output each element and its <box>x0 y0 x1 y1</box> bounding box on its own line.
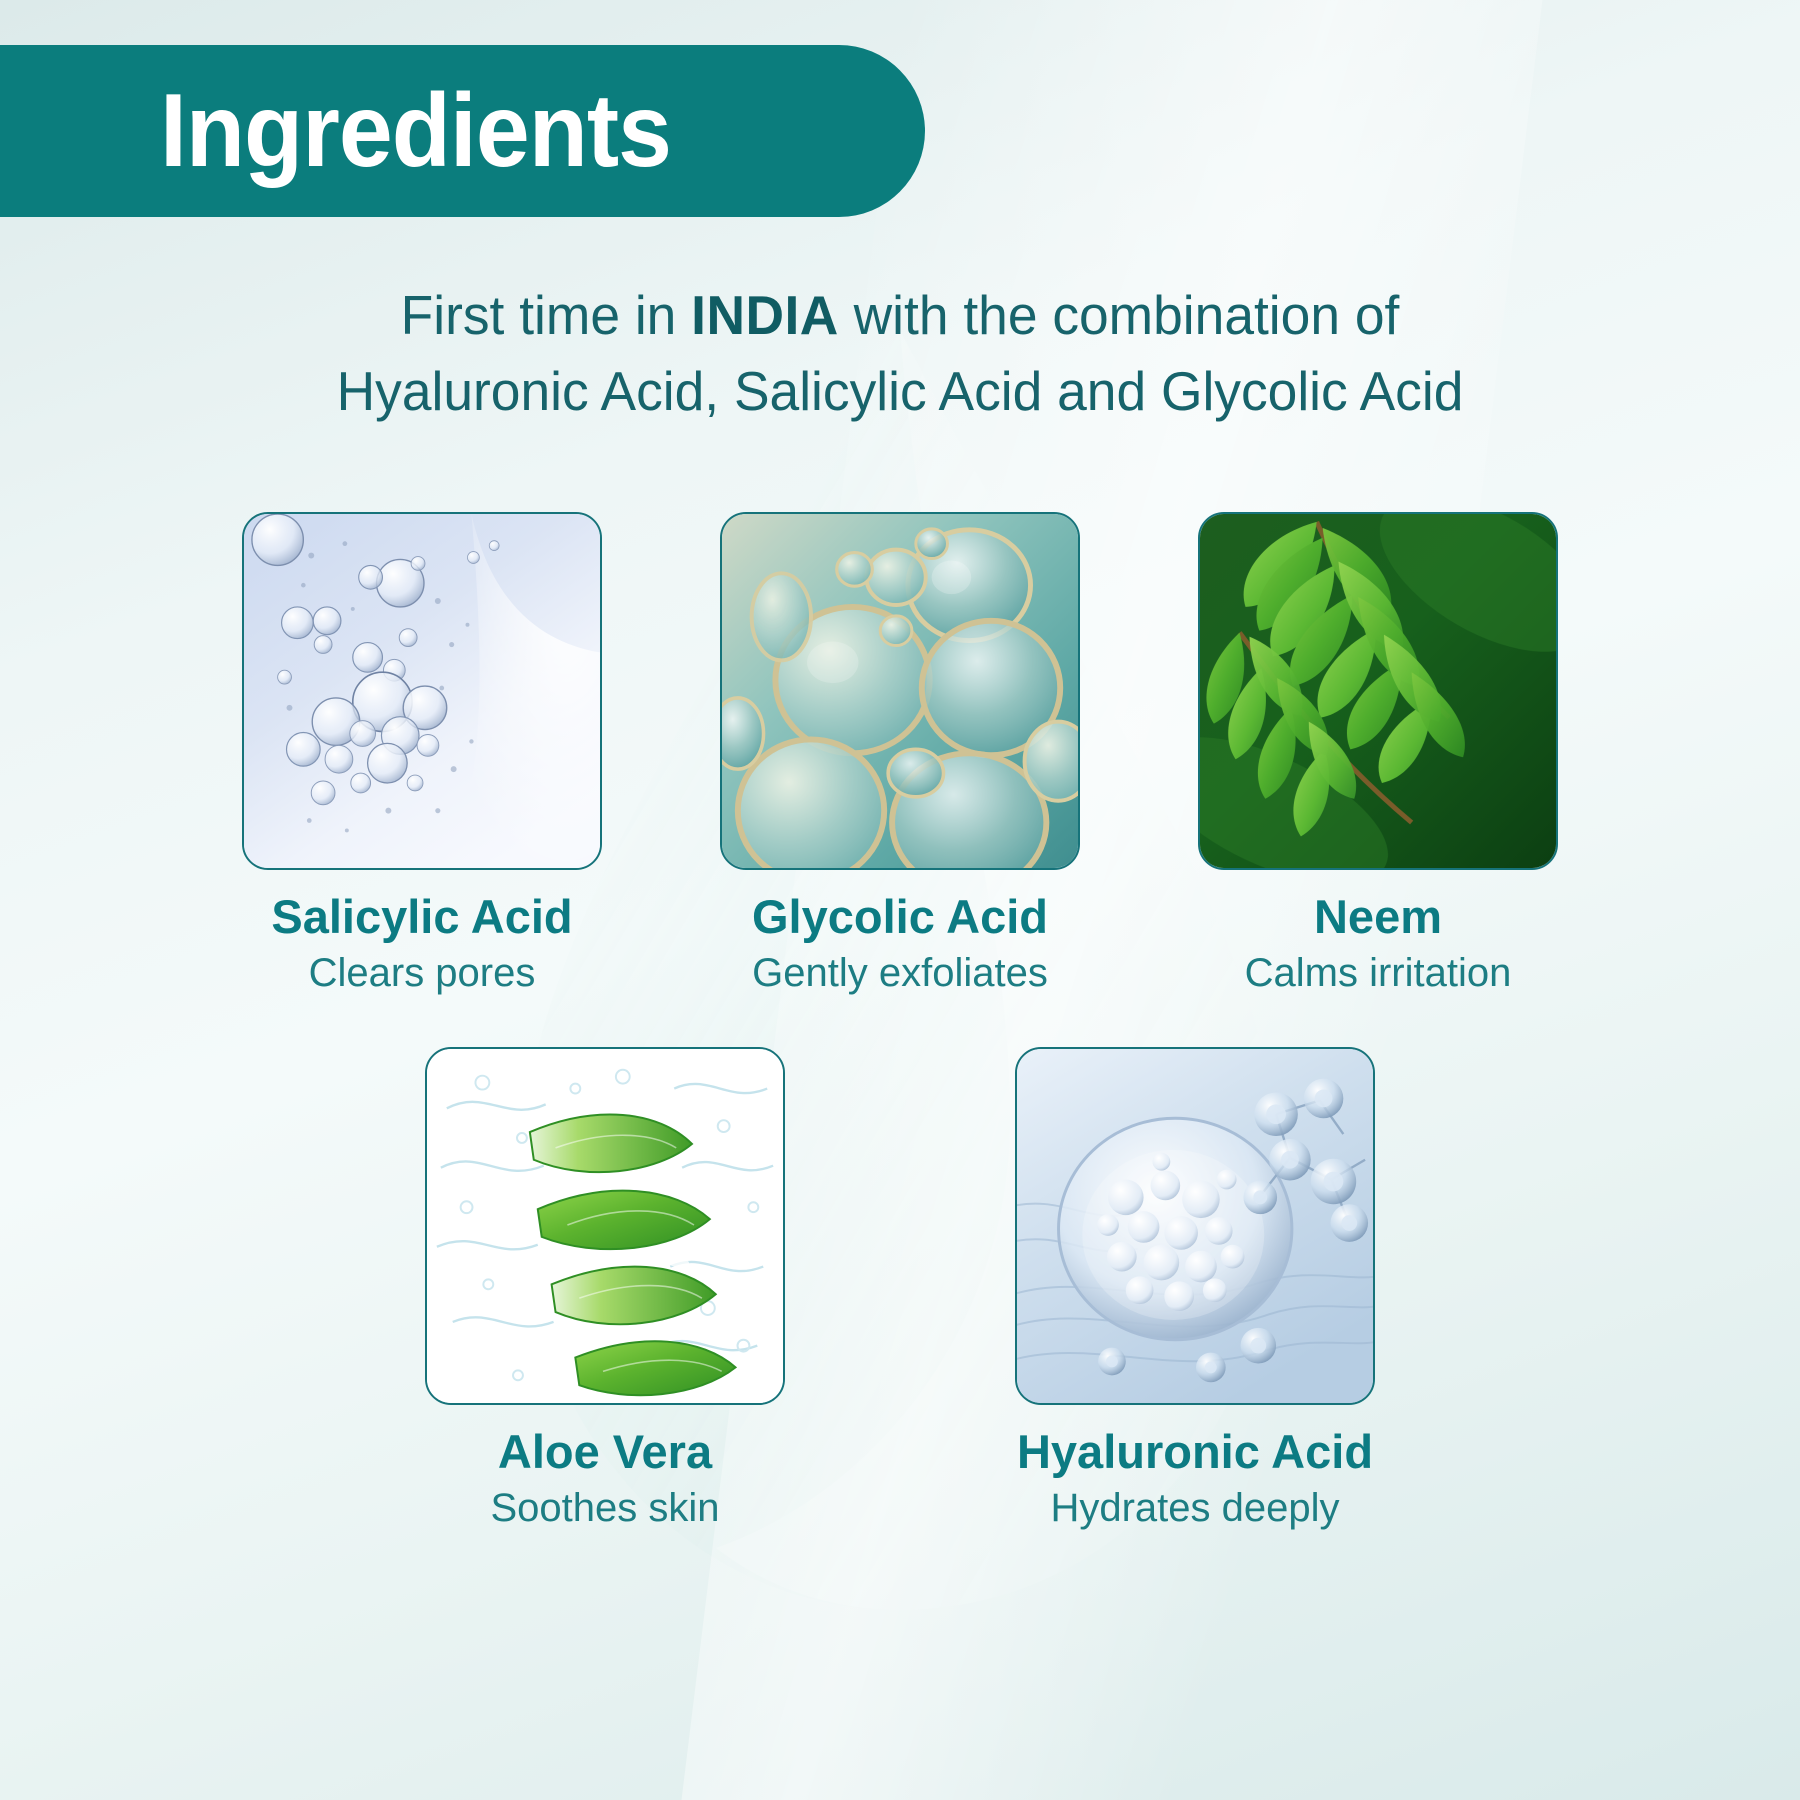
ingredient-row-bottom: Aloe Vera Soothes skin <box>0 1047 1800 1530</box>
ingredient-thumbnail-hyaluronic-acid <box>1015 1047 1375 1405</box>
ingredient-thumbnail-aloe-vera <box>425 1047 785 1405</box>
ingredient-name: Salicylic Acid <box>242 892 602 943</box>
ingredient-name: Glycolic Acid <box>720 892 1080 943</box>
ingredient-name: Aloe Vera <box>425 1427 785 1478</box>
ingredient-card-aloe-vera[interactable]: Aloe Vera Soothes skin <box>425 1047 785 1530</box>
ingredient-row-top: Salicylic Acid Clears pores <box>0 512 1800 995</box>
ingredient-description: Clears pores <box>242 951 602 995</box>
ingredient-card-glycolic-acid[interactable]: Glycolic Acid Gently exfoliates <box>720 512 1080 995</box>
ingredient-description: Gently exfoliates <box>720 951 1080 995</box>
header-banner: Ingredients <box>0 45 925 217</box>
ingredient-card-neem[interactable]: Neem Calms irritation <box>1198 512 1558 995</box>
ingredient-thumbnail-glycolic-acid <box>720 512 1080 870</box>
ingredient-thumbnail-neem <box>1198 512 1558 870</box>
ingredient-name: Hyaluronic Acid <box>1015 1427 1375 1478</box>
ingredient-card-salicylic-acid[interactable]: Salicylic Acid Clears pores <box>242 512 602 995</box>
subtitle: First time in INDIA with the combination… <box>27 278 1773 430</box>
ingredient-description: Calms irritation <box>1198 951 1558 995</box>
subtitle-line-1: First time in INDIA with the combination… <box>27 278 1773 354</box>
ingredient-description: Soothes skin <box>425 1486 785 1530</box>
subtitle-line1-after: with the combination of <box>839 284 1399 346</box>
ingredient-thumbnail-salicylic-acid <box>242 512 602 870</box>
ingredient-card-hyaluronic-acid[interactable]: Hyaluronic Acid Hydrates deeply <box>1015 1047 1375 1530</box>
subtitle-line-2: Hyaluronic Acid, Salicylic Acid and Glyc… <box>27 354 1773 430</box>
subtitle-country-emphasis: INDIA <box>691 284 839 346</box>
subtitle-line1-before: First time in <box>401 284 691 346</box>
ingredient-description: Hydrates deeply <box>1015 1486 1375 1530</box>
page-title: Ingredients <box>0 79 671 183</box>
ingredient-name: Neem <box>1198 892 1558 943</box>
